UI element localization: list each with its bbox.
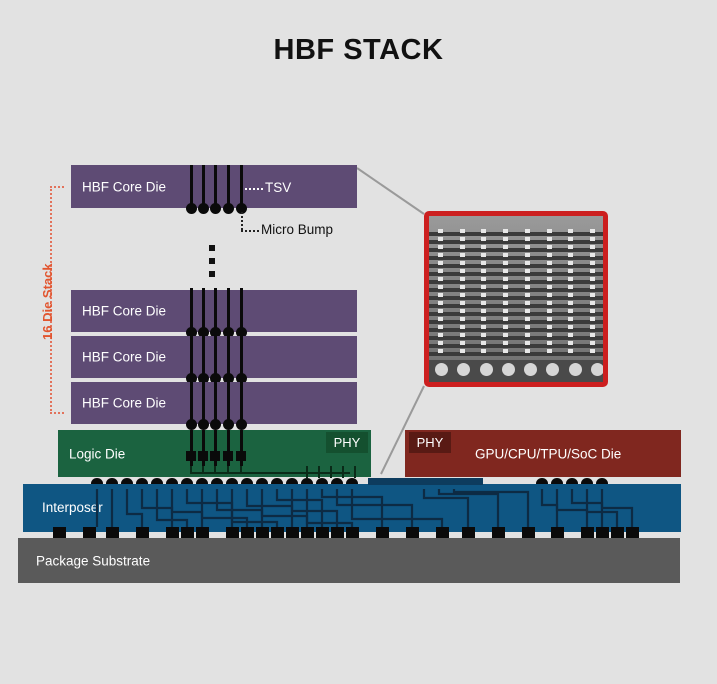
tsv-line — [190, 288, 193, 332]
inset-tsv-dot — [503, 301, 508, 305]
inset-tsv-dot — [460, 317, 465, 321]
page-title: HBF STACK — [0, 34, 717, 67]
inset-tsv-dot — [547, 245, 552, 249]
inset-tsv-dot — [438, 253, 443, 257]
inset-die-boundary — [429, 288, 603, 292]
inset-tsv-dot — [525, 245, 530, 249]
inset-tsv-dot — [481, 285, 486, 289]
inset-tsv-dot — [460, 341, 465, 345]
inset-tsv-dot — [590, 325, 595, 329]
tsv-line — [227, 288, 230, 332]
logic-die-trace — [190, 472, 350, 474]
inset-solder-ball — [480, 363, 493, 376]
inset-tsv-dot — [525, 325, 530, 329]
inset-tsv-dot — [525, 261, 530, 265]
inset-tsv-dot — [590, 333, 595, 337]
inset-tsv-dot — [547, 269, 552, 273]
inset-tsv-dot — [460, 237, 465, 241]
logic-die-pad — [210, 451, 220, 461]
inset-tsv-dot — [568, 341, 573, 345]
logic-die-phy-block: PHY — [326, 432, 368, 453]
logic-die-pad — [236, 451, 246, 461]
inset-tsv-dot — [460, 325, 465, 329]
inset-tsv-dot — [590, 229, 595, 233]
tsv-line — [240, 336, 243, 378]
tsv-line — [214, 288, 217, 332]
inset-tsv-dot — [568, 245, 573, 249]
bridge-bar — [368, 478, 483, 485]
micro-bump — [186, 419, 197, 430]
soc-die-phy-block: PHY — [409, 432, 451, 453]
phy-label: PHY — [417, 435, 444, 450]
inset-die-boundary — [429, 344, 603, 348]
inset-tsv-dot — [525, 309, 530, 313]
inset-tsv-dot — [568, 277, 573, 281]
die-stack-label: 16 Die Stack — [40, 263, 55, 340]
inset-tsv-dot — [568, 253, 573, 257]
inset-tsv-dot — [460, 293, 465, 297]
inset-tsv-dot — [525, 317, 530, 321]
package-substrate-label: Package Substrate — [36, 553, 150, 568]
inset-solder-ball — [524, 363, 537, 376]
inset-tsv-dot — [481, 229, 486, 233]
inset-tsv-dot — [547, 293, 552, 297]
inset-tsv-dot — [590, 309, 595, 313]
inset-die-boundary — [429, 280, 603, 284]
logic-die-trace — [202, 466, 204, 472]
inset-tsv-dot — [460, 285, 465, 289]
inset-tsv-dot — [568, 293, 573, 297]
tsv-line — [202, 288, 205, 332]
inset-tsv-dot — [438, 317, 443, 321]
inset-die-boundary — [429, 336, 603, 340]
tsv-line — [190, 382, 193, 424]
logic-die-label: Logic Die — [69, 446, 125, 461]
interposer: Interposer — [23, 484, 681, 532]
inset-tsv-dot — [503, 309, 508, 313]
inset-die-boundary — [429, 248, 603, 252]
inset-tsv-dot — [481, 333, 486, 337]
inset-tsv-dot — [590, 349, 595, 353]
inset-tsv-dot — [525, 301, 530, 305]
inset-tsv-dot — [460, 229, 465, 233]
inset-tsv-dot — [525, 269, 530, 273]
package-substrate: Package Substrate — [18, 538, 680, 583]
inset-die-boundary — [429, 272, 603, 276]
tsv-line — [202, 336, 205, 378]
logic-die-pad — [186, 451, 196, 461]
inset-die-boundary — [429, 296, 603, 300]
inset-tsv-dot — [460, 277, 465, 281]
inset-tsv-dot — [503, 341, 508, 345]
tsv-line — [227, 382, 230, 424]
interposer-label: Interposer — [42, 500, 103, 515]
inset-tsv-dot — [547, 253, 552, 257]
inset-tsv-dot — [503, 293, 508, 297]
logic-die-trace — [214, 466, 216, 472]
inset-solder-ball — [502, 363, 515, 376]
logic-die-trace — [318, 466, 320, 478]
logic-die-pad — [223, 451, 233, 461]
inset-tsv-dot — [503, 333, 508, 337]
inset-tsv-dot — [590, 341, 595, 345]
inset-tsv-dot — [547, 277, 552, 281]
logic-die-trace — [354, 466, 356, 478]
tsv-line — [240, 165, 243, 208]
tsv-line — [202, 382, 205, 424]
inset-tsv-dot — [503, 253, 508, 257]
inset-tsv-dot — [590, 285, 595, 289]
inset-tsv-dot — [547, 333, 552, 337]
inset-tsv-dot — [438, 309, 443, 313]
inset-die-boundary — [429, 304, 603, 308]
cross-section-inset — [424, 211, 608, 387]
inset-tsv-dot — [525, 333, 530, 337]
inset-tsv-dot — [438, 325, 443, 329]
hbf-core-die-label: HBF Core Die — [82, 304, 166, 319]
inset-tsv-dot — [503, 317, 508, 321]
inset-tsv-dot — [460, 333, 465, 337]
inset-tsv-dot — [590, 269, 595, 273]
soc-die-label: GPU/CPU/TPU/SoC Die — [475, 446, 621, 461]
inset-tsv-dot — [547, 301, 552, 305]
tsv-line — [214, 165, 217, 208]
inset-tsv-dot — [460, 245, 465, 249]
inset-tsv-dot — [547, 285, 552, 289]
inset-tsv-dot — [438, 261, 443, 265]
inset-tsv-dot — [568, 229, 573, 233]
tsv-line — [214, 382, 217, 424]
inset-tsv-dot — [481, 293, 486, 297]
micro-bump-leader-vertical — [241, 212, 243, 230]
inset-tsv-dot — [547, 325, 552, 329]
inset-tsv-dot — [590, 317, 595, 321]
tsv-line — [190, 336, 193, 378]
inset-tsv-dot — [438, 293, 443, 297]
inset-tsv-dot — [525, 277, 530, 281]
inset-tsv-dot — [481, 237, 486, 241]
inset-die-boundary — [429, 240, 603, 244]
inset-tsv-dot — [481, 309, 486, 313]
inset-tsv-dot — [568, 325, 573, 329]
micro-bump — [236, 419, 247, 430]
inset-tsv-dot — [547, 317, 552, 321]
logic-die-trace — [227, 466, 229, 472]
inset-tsv-dot — [525, 237, 530, 241]
inset-tsv-dot — [568, 349, 573, 353]
tsv-line — [227, 336, 230, 378]
inset-tsv-dot — [590, 245, 595, 249]
inset-tsv-dot — [460, 261, 465, 265]
inset-tsv-dot — [460, 301, 465, 305]
inset-tsv-dot — [438, 245, 443, 249]
inset-tsv-dot — [568, 301, 573, 305]
inset-tsv-dot — [438, 333, 443, 337]
inset-tsv-dot — [547, 261, 552, 265]
tsv-line — [202, 165, 205, 208]
hbf-core-die-label: HBF Core Die — [82, 179, 166, 194]
inset-tsv-dot — [590, 301, 595, 305]
inset-tsv-dot — [568, 269, 573, 273]
inset-tsv-dot — [590, 253, 595, 257]
tsv-line — [240, 288, 243, 332]
inset-die-boundary — [429, 312, 603, 316]
inset-tsv-dot — [503, 325, 508, 329]
inset-tsv-dot — [525, 285, 530, 289]
inset-tsv-dot — [568, 333, 573, 337]
logic-die-trace — [240, 466, 242, 472]
inset-tsv-dot — [481, 325, 486, 329]
inset-tsv-dot — [525, 349, 530, 353]
inset-tsv-dot — [503, 277, 508, 281]
inset-tsv-dot — [438, 269, 443, 273]
micro-bump-leader-line — [241, 230, 259, 232]
inset-die-boundary — [429, 352, 603, 356]
inset-tsv-dot — [481, 245, 486, 249]
inset-solder-ball — [435, 363, 448, 376]
tsv-leader-line — [245, 188, 263, 190]
inset-tsv-dot — [503, 349, 508, 353]
inset-tsv-dot — [568, 317, 573, 321]
hbf-core-die-label: HBF Core Die — [82, 396, 166, 411]
micro-bump-callout: Micro Bump — [261, 222, 333, 237]
inset-die-boundary — [429, 256, 603, 260]
micro-bump — [210, 419, 221, 430]
tsv-callout: TSV — [265, 180, 291, 195]
inset-tsv-dot — [568, 285, 573, 289]
inset-tsv-dot — [438, 285, 443, 289]
inset-tsv-dot — [503, 237, 508, 241]
inset-tsv-dot — [460, 349, 465, 353]
inset-tsv-dot — [481, 277, 486, 281]
inset-tsv-dot — [590, 277, 595, 281]
inset-tsv-dot — [590, 261, 595, 265]
tsv-line — [240, 382, 243, 424]
inset-tsv-dot — [481, 301, 486, 305]
inset-tsv-dot — [438, 277, 443, 281]
inset-tsv-dot — [460, 309, 465, 313]
inset-tsv-dot — [503, 261, 508, 265]
inset-tsv-dot — [438, 301, 443, 305]
phy-label: PHY — [334, 435, 361, 450]
inset-tsv-dot — [503, 285, 508, 289]
inset-content — [429, 216, 603, 382]
inset-tsv-dot — [481, 317, 486, 321]
inset-tsv-dot — [481, 253, 486, 257]
inset-tsv-dot — [481, 269, 486, 273]
inset-tsv-dot — [568, 261, 573, 265]
micro-bump — [186, 203, 197, 214]
inset-tsv-dot — [547, 341, 552, 345]
inset-tsv-dot — [547, 229, 552, 233]
micro-bump — [210, 203, 221, 214]
inset-die-boundary — [429, 232, 603, 236]
inset-tsv-dot — [438, 341, 443, 345]
inset-tsv-dot — [590, 237, 595, 241]
inset-tsv-dot — [503, 269, 508, 273]
micro-bump — [198, 203, 209, 214]
micro-bump — [198, 419, 209, 430]
logic-die-trace — [330, 466, 332, 478]
inset-tsv-dot — [503, 245, 508, 249]
inset-tsv-dot — [481, 349, 486, 353]
inset-tsv-dot — [547, 349, 552, 353]
tsv-line — [227, 165, 230, 208]
inset-tsv-dot — [525, 229, 530, 233]
inset-die-boundary — [429, 328, 603, 332]
inset-tsv-dot — [460, 269, 465, 273]
inset-tsv-dot — [481, 261, 486, 265]
inset-tsv-dot — [590, 293, 595, 297]
inset-tsv-dot — [438, 349, 443, 353]
tsv-line — [190, 165, 193, 208]
hbf-core-die-label: HBF Core Die — [82, 350, 166, 365]
inset-tsv-dot — [547, 309, 552, 313]
inset-tsv-dot — [438, 237, 443, 241]
inset-solder-ball — [569, 363, 582, 376]
inset-tsv-dot — [525, 341, 530, 345]
inset-tsv-dot — [568, 309, 573, 313]
inset-die-boundary — [429, 264, 603, 268]
logic-die-trace — [306, 466, 308, 478]
inset-tsv-dot — [481, 341, 486, 345]
logic-die-trace — [342, 466, 344, 478]
diagram-canvas: HBF STACK 16 Die Stack HBF Core Die TSV … — [0, 0, 717, 684]
micro-bump — [223, 419, 234, 430]
inset-tsv-dot — [547, 237, 552, 241]
inset-solder-ball — [591, 363, 604, 376]
micro-bump — [223, 203, 234, 214]
inset-tsv-dot — [568, 237, 573, 241]
logic-die-pad — [198, 451, 208, 461]
tsv-line — [214, 336, 217, 378]
inset-tsv-dot — [460, 253, 465, 257]
inset-tsv-dot — [525, 293, 530, 297]
inset-tsv-dot — [438, 229, 443, 233]
inset-tsv-dot — [525, 253, 530, 257]
inset-tsv-dot — [503, 229, 508, 233]
inset-die-boundary — [429, 320, 603, 324]
